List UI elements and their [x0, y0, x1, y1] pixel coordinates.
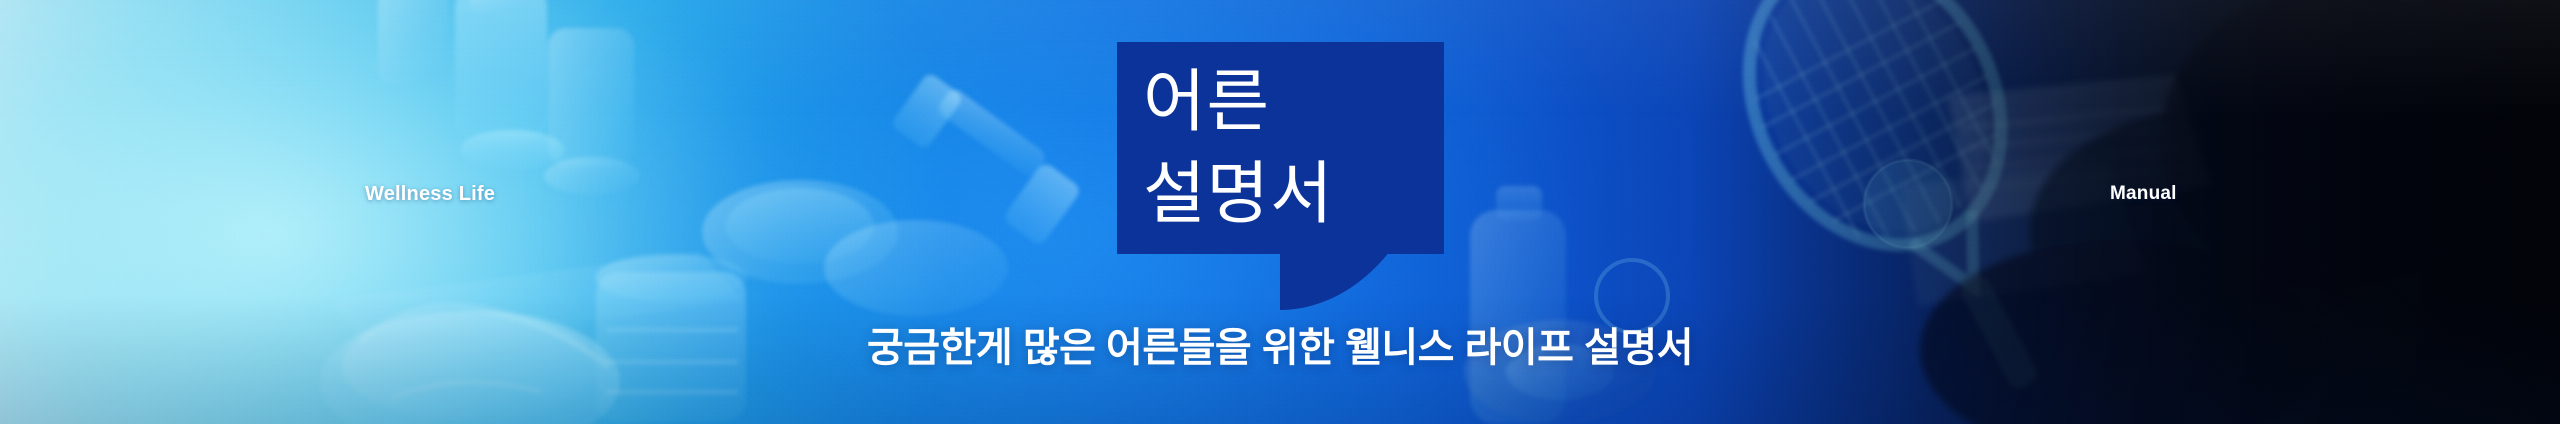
- banner-subtitle-lead: 궁금한게 많은 어른들을 위한: [867, 326, 1345, 370]
- speech-bubble-tail: [1280, 252, 1444, 310]
- eyebrow-label-wellness-life: Wellness Life: [365, 183, 495, 206]
- wellness-life-hero-banner: Wellness Life Manual 어른 설명서 궁금한게 많은 어른들을…: [0, 0, 2560, 424]
- speech-bubble: 어른 설명서: [1117, 42, 1444, 254]
- banner-subtitle-strong: 웰니스 라이프 설명서: [1345, 326, 1693, 370]
- banner-title: 어른 설명서: [1143, 56, 1443, 240]
- banner-subtitle: 궁금한게 많은 어른들을 위한 웰니스 라이프 설명서: [0, 322, 2560, 374]
- eyebrow-label-manual: Manual: [2110, 183, 2177, 205]
